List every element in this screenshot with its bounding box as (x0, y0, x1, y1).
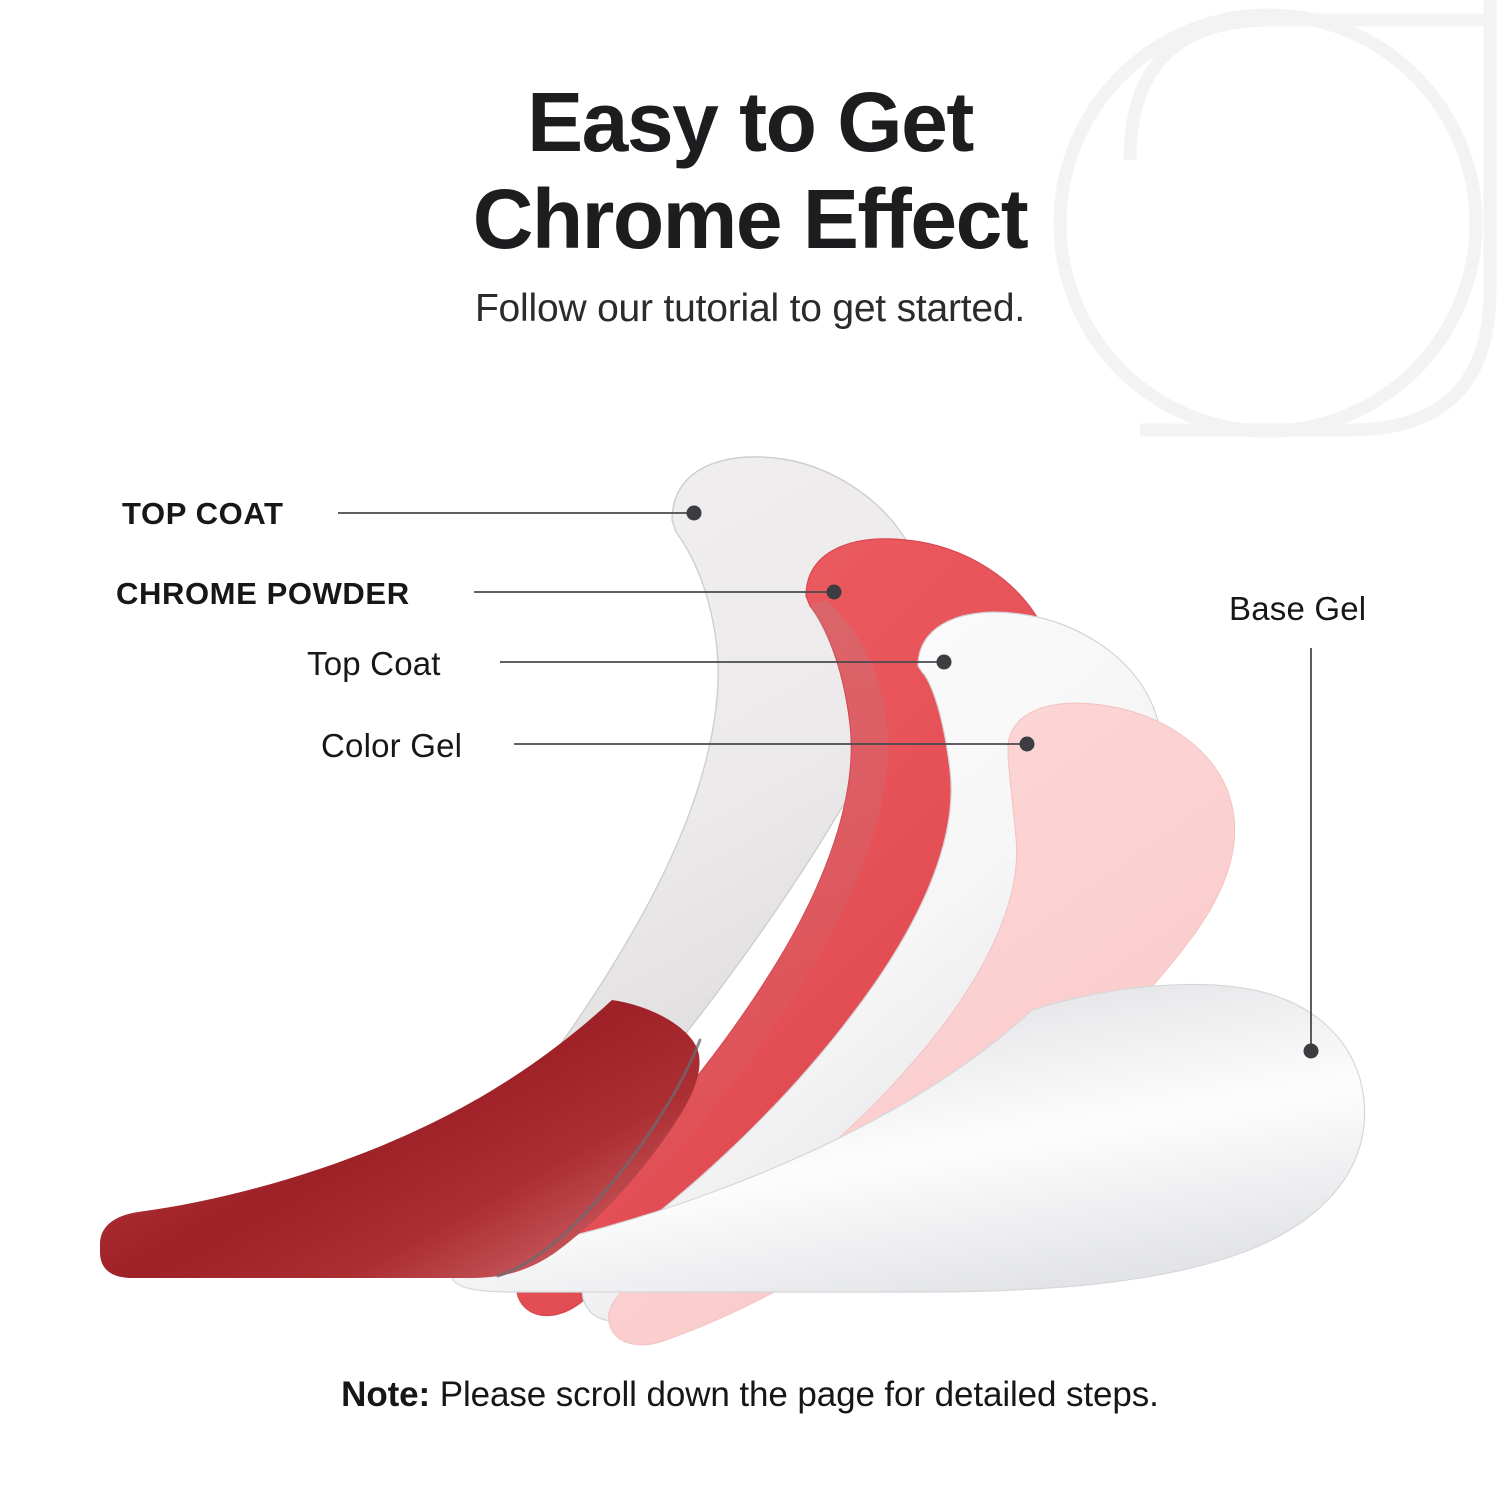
footer-note-text: Please scroll down the page for detailed… (430, 1375, 1159, 1414)
nail-layer-diagram: TOP COAT CHROME POWDER Top Coat Color Ge… (0, 0, 1500, 1500)
nail-cross-section-illustration (0, 0, 1500, 1500)
dot-chrome-powder (827, 585, 842, 600)
footer-note-prefix: Note: (341, 1375, 430, 1414)
callout-label-top-coat-outer: TOP COAT (122, 496, 284, 532)
callout-label-color-gel: Color Gel (321, 727, 462, 765)
callout-label-top-coat-inner: Top Coat (307, 645, 441, 683)
infographic-page: Easy to Get Chrome Effect Follow our tut… (0, 0, 1500, 1500)
dot-color-gel (1020, 737, 1035, 752)
dot-top-coat-inner (937, 655, 952, 670)
dot-base-gel (1304, 1044, 1319, 1059)
callout-label-base-gel: Base Gel (1229, 590, 1366, 628)
footer-note: Note: Please scroll down the page for de… (0, 1375, 1500, 1415)
dot-top-coat-outer (687, 506, 702, 521)
callout-label-chrome-powder: CHROME POWDER (116, 576, 410, 612)
